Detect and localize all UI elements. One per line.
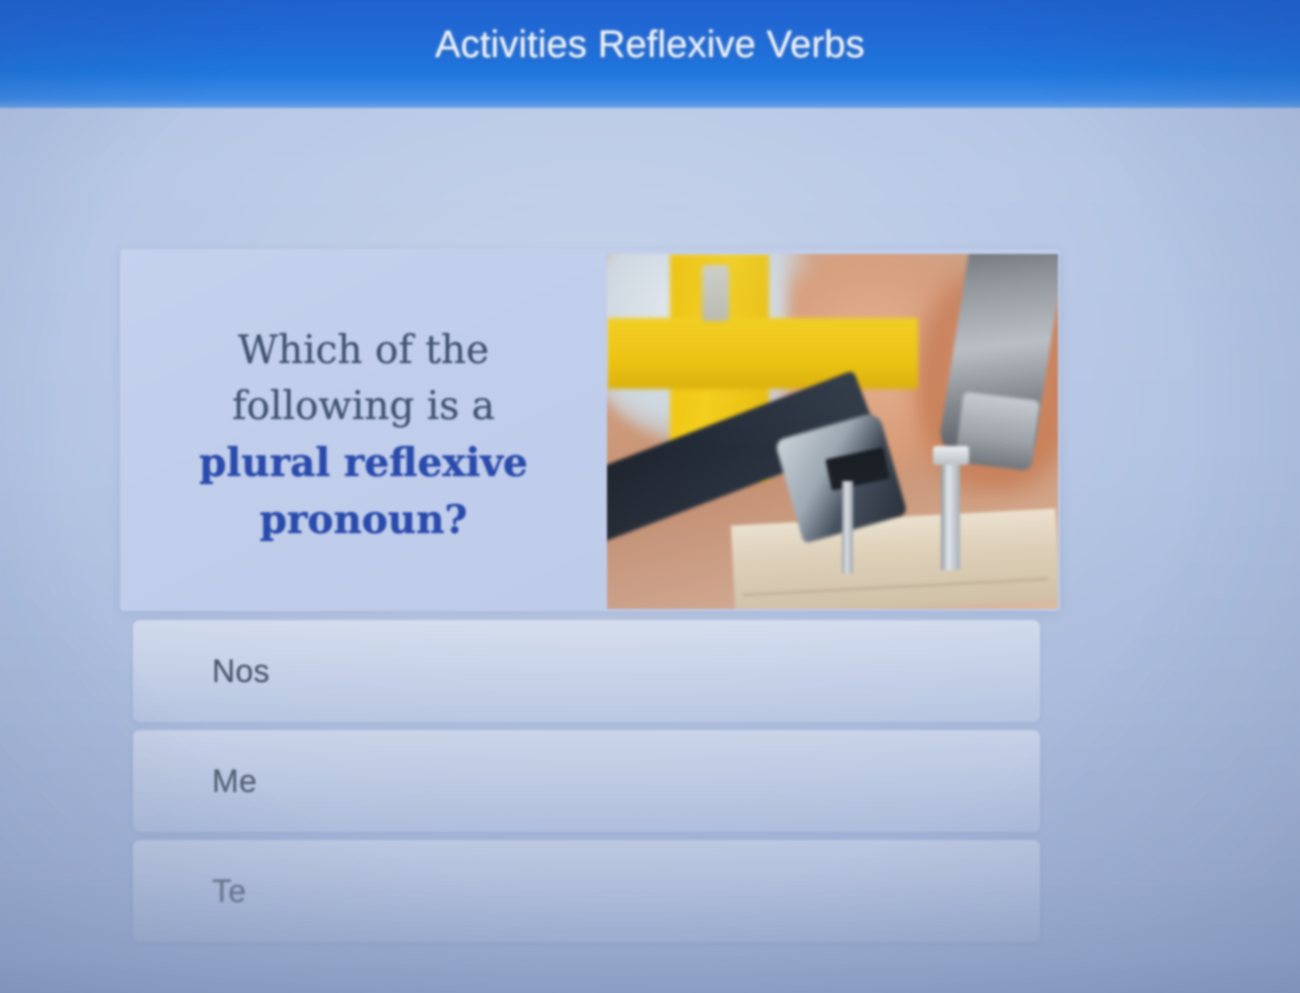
question-card: Which of the following is a plural refle… bbox=[120, 249, 1060, 611]
answer-option-nos[interactable]: Nos bbox=[133, 620, 1040, 722]
hammer-face bbox=[955, 392, 1040, 472]
page-title: Activities Reflexive Verbs bbox=[0, 24, 1300, 67]
yellow-square-vertical-arm bbox=[670, 254, 769, 481]
app-header-bar: Activities Reflexive Verbs bbox=[0, 0, 1300, 108]
arm-tone-left bbox=[787, 254, 994, 481]
answer-option-label: Te bbox=[212, 873, 246, 910]
question-accent-line-2: pronoun? bbox=[260, 497, 468, 543]
screw-left bbox=[842, 481, 854, 573]
question-line-2: following is a bbox=[232, 384, 495, 429]
screw-right bbox=[941, 456, 960, 570]
question-text-pane: Which of the following is a plural refle… bbox=[120, 249, 607, 611]
answer-option-label: Me bbox=[212, 763, 257, 800]
yellow-square-horizontal-arm bbox=[607, 318, 918, 389]
arm-tone-right bbox=[914, 268, 1058, 495]
answer-option-me[interactable]: Me bbox=[133, 730, 1040, 832]
wood-plank bbox=[731, 508, 1058, 609]
answer-option-label: Nos bbox=[212, 653, 270, 690]
wrench-jaw-gap bbox=[825, 447, 889, 490]
question-line-1: Which of the bbox=[238, 328, 489, 373]
answer-options-list: Nos Me Te bbox=[133, 620, 1040, 950]
answer-option-te[interactable]: Te bbox=[133, 840, 1040, 942]
question-accent-line-1: plural reflexive bbox=[199, 440, 528, 486]
hammer-head bbox=[938, 254, 1058, 466]
wood-grain-line bbox=[742, 578, 1048, 596]
wrench-handle bbox=[607, 370, 878, 549]
quiz-screen: Activities Reflexive Verbs Which of the … bbox=[0, 0, 1300, 993]
wrench-head bbox=[775, 412, 908, 544]
tools-photo bbox=[607, 254, 1058, 609]
screw-right-head bbox=[933, 446, 969, 466]
yellow-square-slot bbox=[702, 265, 729, 322]
question-prompt: Which of the following is a plural refle… bbox=[199, 323, 528, 550]
blurred-grey-object bbox=[607, 254, 833, 446]
